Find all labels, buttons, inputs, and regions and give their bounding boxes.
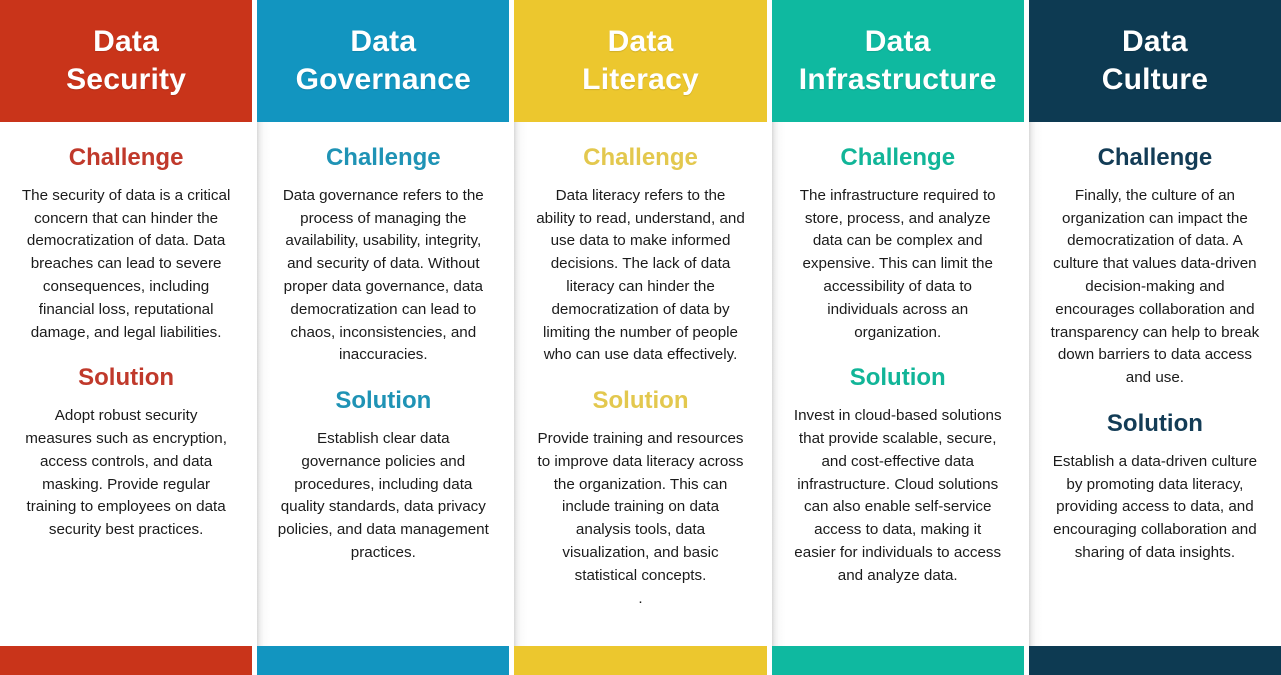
column-header-data-literacy: Data Literacy bbox=[514, 0, 766, 122]
section-heading: Solution bbox=[788, 364, 1008, 393]
section-heading: Challenge bbox=[273, 144, 493, 173]
column-footer-data-literacy bbox=[514, 646, 766, 675]
column-header-data-security: Data Security bbox=[0, 0, 252, 122]
section-text: Establish clear data governance policies… bbox=[273, 428, 493, 565]
section-solution-data-governance: SolutionEstablish clear data governance … bbox=[273, 387, 493, 565]
column-header-data-culture: Data Culture bbox=[1029, 0, 1281, 122]
column-data-culture: Data CultureChallengeFinally, the cultur… bbox=[1029, 0, 1281, 675]
column-title: Data Governance bbox=[296, 23, 471, 100]
section-trailing-dot: . bbox=[634, 590, 646, 607]
section-text: Finally, the culture of an organization … bbox=[1045, 185, 1265, 390]
column-body-data-infrastructure: ChallengeThe infrastructure required to … bbox=[772, 122, 1024, 646]
column-body-data-security: ChallengeThe security of data is a criti… bbox=[0, 122, 252, 646]
column-title: Data Infrastructure bbox=[799, 23, 997, 100]
section-heading: Solution bbox=[1045, 410, 1265, 439]
section-heading: Solution bbox=[530, 387, 750, 416]
column-header-data-governance: Data Governance bbox=[257, 0, 509, 122]
section-solution-data-infrastructure: SolutionInvest in cloud-based solutions … bbox=[788, 364, 1008, 587]
section-challenge-data-infrastructure: ChallengeThe infrastructure required to … bbox=[788, 144, 1008, 344]
section-text: Invest in cloud-based solutions that pro… bbox=[788, 405, 1008, 587]
section-text: Data governance refers to the process of… bbox=[273, 185, 493, 367]
column-body-data-governance: ChallengeData governance refers to the p… bbox=[257, 122, 509, 646]
column-footer-data-infrastructure bbox=[772, 646, 1024, 675]
column-data-literacy: Data LiteracyChallengeData literacy refe… bbox=[514, 0, 766, 675]
section-challenge-data-governance: ChallengeData governance refers to the p… bbox=[273, 144, 493, 367]
section-heading: Challenge bbox=[1045, 144, 1265, 173]
section-solution-data-security: SolutionAdopt robust security measures s… bbox=[16, 364, 236, 542]
section-solution-data-culture: SolutionEstablish a data-driven culture … bbox=[1045, 410, 1265, 565]
section-challenge-data-literacy: ChallengeData literacy refers to the abi… bbox=[530, 144, 750, 367]
column-header-data-infrastructure: Data Infrastructure bbox=[772, 0, 1024, 122]
section-text: The security of data is a critical conce… bbox=[16, 185, 236, 345]
column-title: Data Security bbox=[66, 23, 186, 100]
section-text: Establish a data-driven culture by promo… bbox=[1045, 451, 1265, 565]
section-heading: Challenge bbox=[788, 144, 1008, 173]
section-text: Data literacy refers to the ability to r… bbox=[530, 185, 750, 367]
column-title: Data Culture bbox=[1102, 23, 1208, 100]
column-data-infrastructure: Data InfrastructureChallengeThe infrastr… bbox=[772, 0, 1024, 675]
column-footer-data-governance bbox=[257, 646, 509, 675]
section-heading: Challenge bbox=[530, 144, 750, 173]
column-footer-data-culture bbox=[1029, 646, 1281, 675]
section-text: Adopt robust security measures such as e… bbox=[16, 405, 236, 542]
column-data-governance: Data GovernanceChallengeData governance … bbox=[257, 0, 509, 675]
section-heading: Solution bbox=[273, 387, 493, 416]
column-body-data-literacy: ChallengeData literacy refers to the abi… bbox=[514, 122, 766, 646]
section-text: Provide training and resources to improv… bbox=[530, 428, 750, 588]
section-heading: Challenge bbox=[16, 144, 236, 173]
comparison-board: Data SecurityChallengeThe security of da… bbox=[0, 0, 1281, 675]
column-title: Data Literacy bbox=[582, 23, 699, 100]
section-challenge-data-security: ChallengeThe security of data is a criti… bbox=[16, 144, 236, 344]
column-data-security: Data SecurityChallengeThe security of da… bbox=[0, 0, 252, 675]
section-heading: Solution bbox=[16, 364, 236, 393]
column-body-data-culture: ChallengeFinally, the culture of an orga… bbox=[1029, 122, 1281, 646]
section-text: The infrastructure required to store, pr… bbox=[788, 185, 1008, 345]
section-challenge-data-culture: ChallengeFinally, the culture of an orga… bbox=[1045, 144, 1265, 390]
column-footer-data-security bbox=[0, 646, 252, 675]
section-solution-data-literacy: SolutionProvide training and resources t… bbox=[530, 387, 750, 610]
